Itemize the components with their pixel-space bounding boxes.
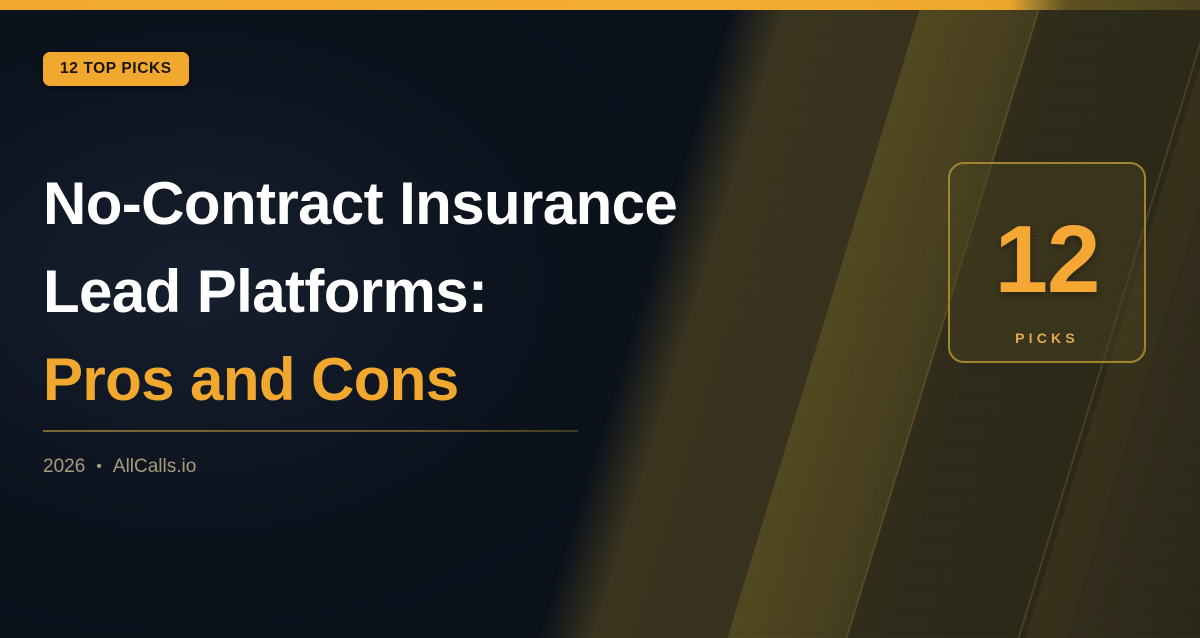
picks-count-badge: 12 PICKS: [948, 162, 1146, 363]
picks-count-number: 12: [995, 212, 1100, 308]
byline-site: AllCalls.io: [113, 456, 196, 478]
title-card: 12 TOP PICKS No-Contract Insurance Lead …: [0, 0, 1200, 638]
byline-year: 2026: [43, 456, 85, 478]
top-accent-bar: [0, 0, 1200, 10]
top-picks-badge-label: 12 TOP PICKS: [60, 60, 172, 78]
title-line-2: Lead Platforms:: [43, 248, 823, 336]
page-title: No-Contract Insurance Lead Platforms: Pr…: [43, 160, 823, 424]
byline-separator-dot: •: [96, 459, 102, 475]
title-divider: [43, 430, 578, 432]
byline: 2026 • AllCalls.io: [43, 456, 196, 478]
top-picks-badge: 12 TOP PICKS: [43, 52, 189, 86]
title-line-3: Pros and Cons: [43, 336, 823, 424]
picks-count-caption: PICKS: [1015, 330, 1079, 346]
title-line-1: No-Contract Insurance: [43, 160, 823, 248]
